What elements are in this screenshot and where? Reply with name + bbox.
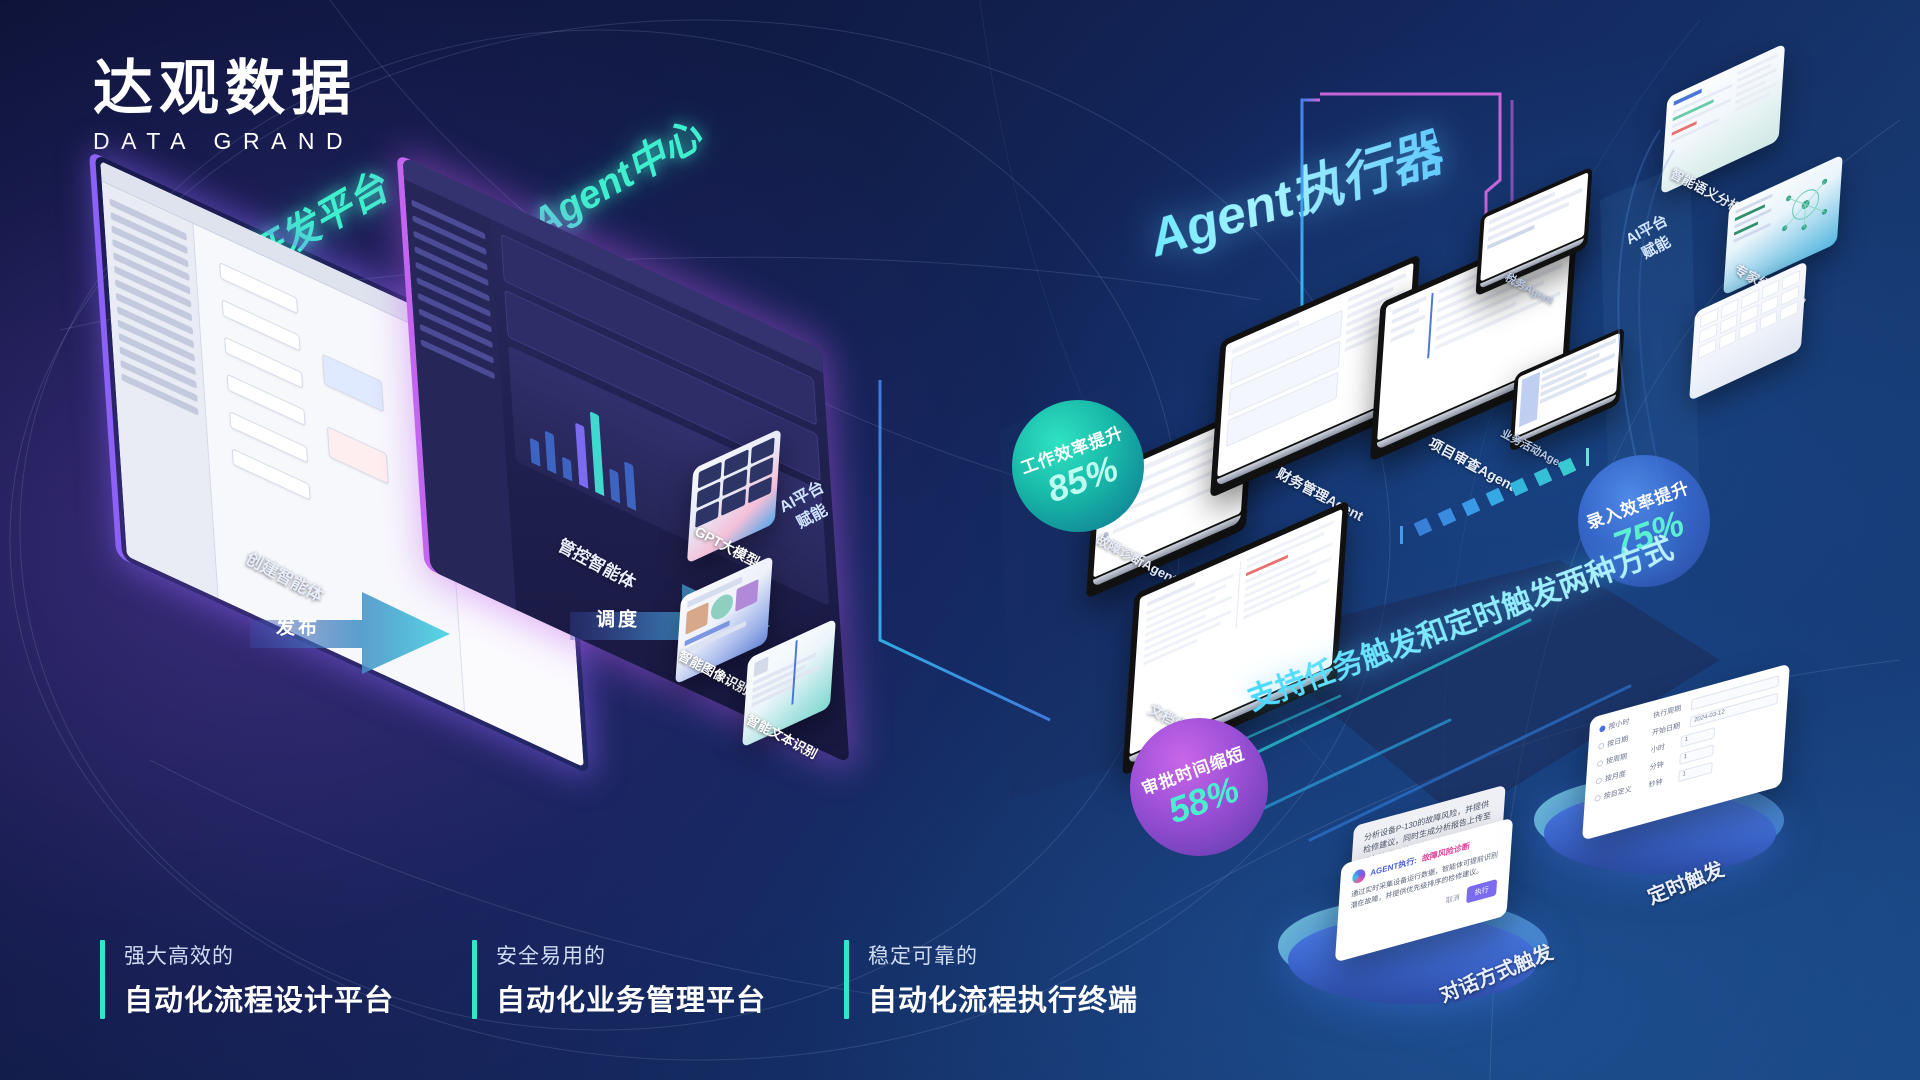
caption-execution-terminal: 稳定可靠的 自动化流程执行终端 [844, 940, 1138, 1019]
radio-icon [1598, 742, 1604, 750]
caption-accent-bar [100, 940, 105, 1019]
stat-badge-approval-time: 审批时间缩短 58% [1130, 718, 1268, 856]
radio-icon [1597, 760, 1603, 768]
schedule-arrow-label: 调度 [596, 605, 640, 632]
label-ai-platform-enable-right: AI平台 赋能 [1622, 211, 1681, 268]
infographic-canvas: 达观数据 DATA GRAND Agent开发平台 [0, 0, 1920, 1080]
radio-icon [1594, 794, 1600, 802]
schedule-field-label: 小时 [1651, 738, 1678, 755]
schedule-radio-label: 按周期 [1606, 751, 1628, 767]
stat-badge-efficiency: 工作效率提升 85% [1012, 400, 1144, 532]
schedule-field-label: 执行周期 [1653, 701, 1688, 721]
schedule-radio-label: 按小时 [1608, 716, 1630, 732]
brand-name-en: DATA GRAND [93, 128, 357, 155]
schedule-radio-label: 按日期 [1607, 734, 1629, 750]
radio-icon [1596, 777, 1602, 785]
caption-main: 自动化流程执行终端 [868, 977, 1138, 1019]
caption-accent-bar [472, 940, 477, 1019]
caption-accent-bar [844, 940, 849, 1019]
schedule-field-label: 开始日期 [1652, 718, 1687, 738]
schedule-second-input[interactable]: 1 [1678, 762, 1713, 783]
radio-icon [1599, 725, 1605, 733]
caption-main: 自动化流程设计平台 [124, 977, 394, 1019]
publish-arrow-label: 发布 [276, 613, 320, 640]
schedule-radio-label: 按自定义 [1603, 784, 1632, 802]
agent-logo-icon [1352, 868, 1366, 885]
caption-main: 自动化业务管理平台 [496, 977, 766, 1019]
caption-sub: 稳定可靠的 [868, 940, 1138, 970]
flow-arrow-publish: 发布 [250, 578, 462, 674]
caption-management-platform: 安全易用的 自动化业务管理平台 [472, 940, 844, 1019]
agent-card-cancel-button[interactable]: 取消 [1445, 893, 1460, 907]
knowledge-graph-icon [1774, 165, 1836, 248]
schedule-field-label: 秒钟 [1648, 773, 1675, 790]
caption-sub: 强大高效的 [124, 940, 394, 970]
schedule-radio-group[interactable]: 按小时 按日期 按周期 按月度 按自定义 [1593, 712, 1646, 829]
agent-card-confirm-button[interactable]: 执行 [1466, 879, 1497, 904]
section-title-executor: Agent执行器 [1138, 111, 1450, 271]
schedule-radio-label: 按月度 [1604, 768, 1626, 784]
brand-name-cn: 达观数据 [93, 58, 357, 121]
caption-sub: 安全易用的 [496, 940, 766, 970]
caption-design-platform: 强大高效的 自动化流程设计平台 [100, 940, 472, 1019]
schedule-field-label: 分钟 [1649, 755, 1676, 772]
bottom-captions: 强大高效的 自动化流程设计平台 安全易用的 自动化业务管理平台 稳定可靠的 自动… [100, 940, 1138, 1019]
brand-logo: 达观数据 DATA GRAND [93, 58, 357, 155]
